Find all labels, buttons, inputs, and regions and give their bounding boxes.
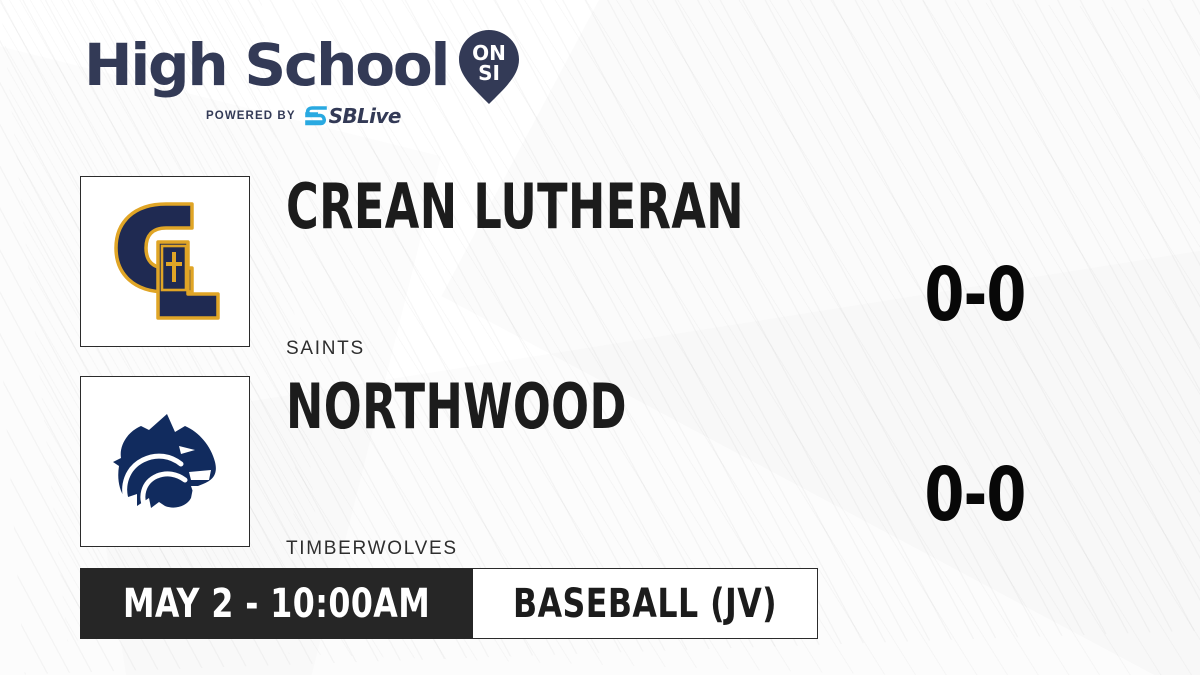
sblive-logo: SBLive	[305, 104, 401, 128]
team-name-wrap: CREAN LUTHERAN	[286, 176, 846, 238]
game-datetime-panel: MAY 2 - 10:00AM	[80, 568, 473, 639]
powered-by-row: POWERED BY SBLive	[206, 104, 514, 128]
team-name: CREAN LUTHERAN	[286, 176, 734, 238]
northwood-timberwolf-head-icon	[105, 406, 225, 518]
brand-wordmark-row: High School ON SI	[84, 32, 514, 98]
game-sport-panel: BASEBALL (JV)	[473, 568, 818, 639]
sblive-s-icon	[305, 106, 327, 126]
team-logo-box	[80, 176, 250, 347]
team-name-wrap: NORTHWOOD	[286, 376, 846, 438]
crean-lutheran-cl-monogram-icon	[106, 198, 224, 326]
sblive-wordmark: SBLive	[329, 104, 401, 128]
game-datetime: MAY 2 - 10:00AM	[123, 584, 430, 624]
game-info-bar: MAY 2 - 10:00AM BASEBALL (JV)	[80, 568, 818, 639]
team-name: NORTHWOOD	[286, 376, 734, 438]
powered-by-label: POWERED BY	[206, 110, 296, 122]
team-record: 0-0	[876, 458, 1074, 532]
on-si-pin-icon: ON SI	[458, 29, 520, 105]
team-record: 0-0	[876, 258, 1074, 332]
team-nickname: TIMBERWOLVES	[286, 538, 458, 560]
pin-text-si: SI	[478, 61, 500, 85]
team-nickname: SAINTS	[286, 338, 365, 360]
team-logo-box	[80, 376, 250, 547]
game-sport: BASEBALL (JV)	[513, 584, 777, 624]
matchup-graphic: High School ON SI POWERED BY SBLive	[0, 0, 1200, 675]
high-school-wordmark: High School	[84, 36, 448, 94]
brand-header: High School ON SI POWERED BY SBLive	[84, 32, 514, 128]
